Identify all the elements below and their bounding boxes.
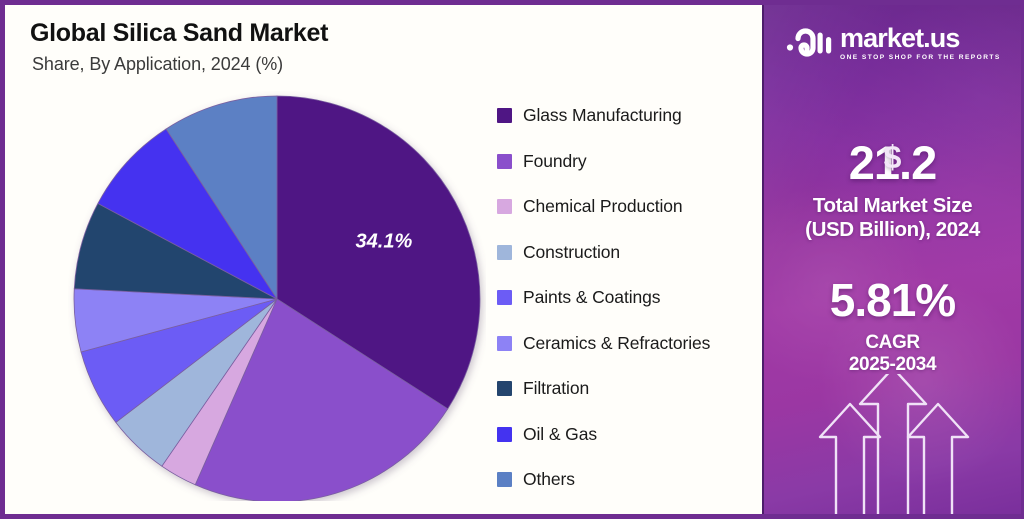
pie-chart-svg: 34.1% — [68, 91, 486, 501]
legend-swatch-icon — [497, 108, 512, 123]
up-arrow-icon — [908, 404, 968, 514]
legend-item[interactable]: Oil & Gas — [497, 412, 759, 458]
legend-item[interactable]: Paints & Coatings — [497, 275, 759, 321]
stat-caption: Total Market Size (USD Billion), 2024 — [764, 194, 1021, 242]
up-arrow-icon — [820, 404, 880, 514]
legend-label: Foundry — [523, 151, 587, 172]
legend-item[interactable]: Chemical Production — [497, 184, 759, 230]
market-us-logo-icon — [786, 26, 832, 60]
legend-swatch-icon — [497, 427, 512, 442]
legend-item[interactable]: Ceramics & Refractories — [497, 321, 759, 367]
pie-slice-label: 34.1% — [356, 231, 413, 253]
legend-label: Paints & Coatings — [523, 287, 660, 308]
infographic-root: Global Silica Sand Market Share, By Appl… — [0, 0, 1024, 519]
legend-label: Glass Manufacturing — [523, 105, 682, 126]
legend-item[interactable]: Foundry — [497, 139, 759, 185]
page-subtitle: Share, By Application, 2024 (%) — [32, 54, 283, 75]
stat-caption-line2: (USD Billion), 2024 — [764, 218, 1021, 242]
legend-swatch-icon — [497, 290, 512, 305]
legend-item[interactable]: Construction — [497, 230, 759, 276]
legend-swatch-icon — [497, 472, 512, 487]
stat-value: 5.81% — [764, 273, 1021, 327]
up-arrow-icon — [860, 374, 926, 514]
chart-legend: Glass ManufacturingFoundryChemical Produ… — [497, 93, 759, 503]
legend-label: Oil & Gas — [523, 424, 597, 445]
legend-swatch-icon — [497, 199, 512, 214]
legend-swatch-icon — [497, 154, 512, 169]
legend-label: Filtration — [523, 378, 589, 399]
legend-label: Chemical Production — [523, 196, 683, 217]
legend-label: Others — [523, 469, 575, 490]
legend-swatch-icon — [497, 245, 512, 260]
stat-caption-line1: CAGR — [764, 332, 1021, 354]
growth-arrows — [764, 374, 1021, 514]
dollar-sign-icon: $ — [764, 139, 1021, 176]
brand-logo[interactable]: market.us ONE STOP SHOP FOR THE REPORTS — [786, 25, 1001, 62]
page-title: Global Silica Sand Market — [30, 19, 328, 48]
brand-tagline: ONE STOP SHOP FOR THE REPORTS — [840, 55, 1001, 62]
pie-slice-group — [74, 96, 480, 501]
legend-label: Ceramics & Refractories — [523, 333, 710, 354]
legend-item[interactable]: Others — [497, 457, 759, 503]
chart-panel: Global Silica Sand Market Share, By Appl… — [5, 5, 762, 514]
brand-name: market.us — [840, 25, 959, 52]
legend-swatch-icon — [497, 381, 512, 396]
stat-cagr: 5.81% CAGR 2025-2034 — [764, 273, 1021, 376]
stat-caption: CAGR 2025-2034 — [764, 332, 1021, 376]
legend-label: Construction — [523, 242, 620, 263]
legend-item[interactable]: Filtration — [497, 366, 759, 412]
pie-chart: 34.1% — [68, 91, 486, 501]
legend-item[interactable]: Glass Manufacturing — [497, 93, 759, 139]
brand-stats-panel: market.us ONE STOP SHOP FOR THE REPORTS … — [762, 5, 1021, 514]
stat-caption-line1: Total Market Size — [764, 194, 1021, 218]
legend-swatch-icon — [497, 336, 512, 351]
